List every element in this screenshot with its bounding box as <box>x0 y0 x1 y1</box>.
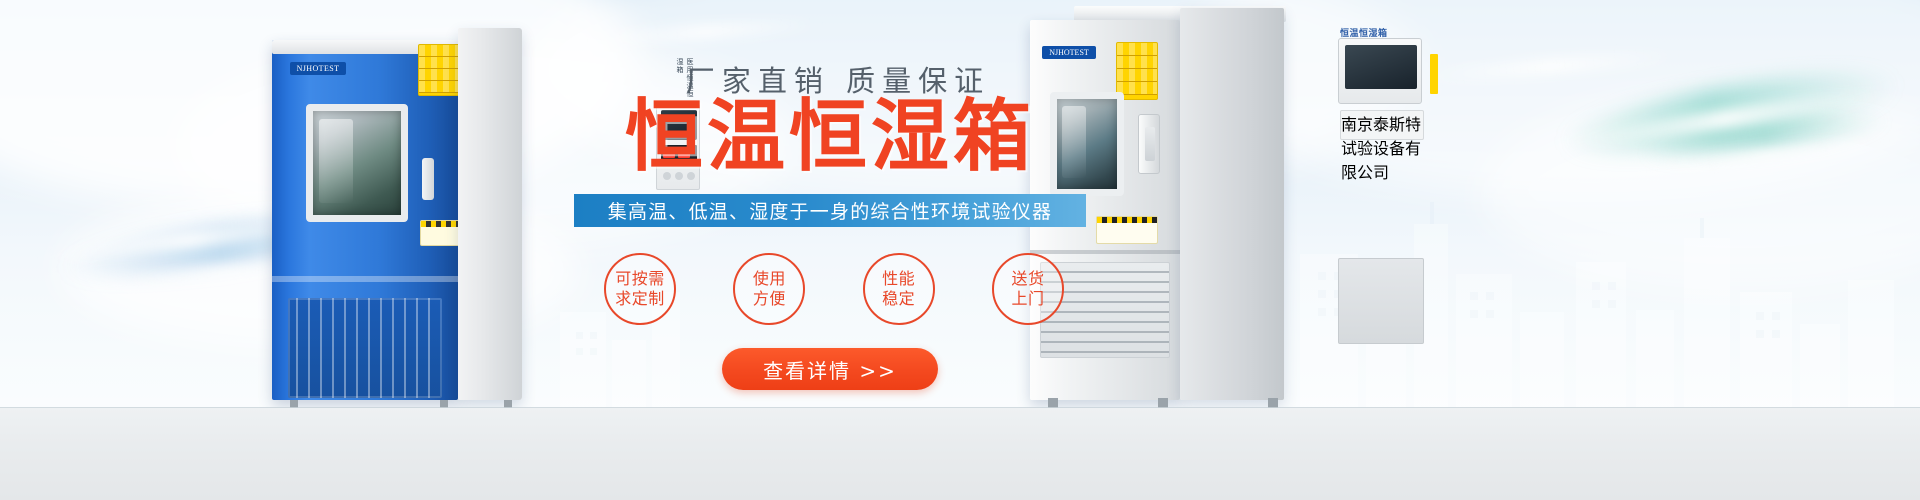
badge-line-1: 送货 <box>1011 269 1044 289</box>
product-name-plate: 恒温恒湿箱 <box>1340 26 1426 38</box>
body-seam <box>272 276 458 282</box>
banner-subtitle-bar: 集高温、低温、湿度于一身的综合性环境试验仪器 <box>574 194 1086 227</box>
feature-badge-row: 可按需 求定制 使用 方便 性能 稳定 送货 上门 <box>604 246 1064 332</box>
feature-badge-easy-use[interactable]: 使用 方便 <box>733 253 805 325</box>
feature-badge-stable[interactable]: 性能 稳定 <box>863 253 935 325</box>
door-handle[interactable] <box>1138 114 1160 174</box>
control-panel[interactable] <box>1338 38 1422 104</box>
warning-label-panel <box>1116 42 1158 100</box>
brand-logo: NJHOTEST <box>290 62 346 75</box>
badge-line-2: 求定制 <box>615 289 665 309</box>
view-details-button[interactable]: 查看详情 >> <box>722 348 938 390</box>
feature-badge-delivery[interactable]: 送货 上门 <box>992 253 1064 325</box>
control-screen <box>1345 45 1417 89</box>
badge-line-1: 可按需 <box>615 269 665 289</box>
banner-headline: 恒温恒湿箱 <box>560 98 1100 176</box>
side-vent-panel <box>1338 258 1424 344</box>
company-nameplate: 南京泰斯特试验设备有限公司 <box>1340 110 1424 140</box>
promo-banner: NJHOTEST 医用恒温恒湿箱 <box>0 0 1920 500</box>
chamber-right-side: 恒温恒湿箱 南京泰斯特试验设备有限公司 <box>1180 8 1284 400</box>
badge-line-1: 使用 <box>753 269 786 289</box>
chamber-viewing-window <box>306 104 408 222</box>
cloud-decoration <box>1480 90 1920 290</box>
cloud-streak <box>1648 135 1888 176</box>
caution-sticker <box>1096 216 1158 244</box>
swoosh-decoration <box>1639 105 1891 170</box>
badge-line-2: 方便 <box>753 289 786 309</box>
vent-grille <box>288 298 442 398</box>
door-handle <box>422 158 434 200</box>
banner-subtitle-text: 集高温、低温、湿度于一身的综合性环境试验仪器 <box>608 197 1052 224</box>
chamber-body: NJHOTEST <box>272 40 458 400</box>
badge-line-2: 上门 <box>1011 289 1044 309</box>
feature-badge-custom[interactable]: 可按需 求定制 <box>604 253 676 325</box>
ground-strip <box>0 408 1920 500</box>
badge-line-1: 性能 <box>882 269 915 289</box>
accent-stripe <box>1430 54 1438 94</box>
cloud-streak <box>1420 49 1680 85</box>
cloud-streak <box>1561 84 1890 153</box>
swoosh-decoration <box>1558 57 1902 169</box>
chamber-control-side: 医用恒温恒湿箱 <box>458 28 522 400</box>
product-left-chamber: NJHOTEST 医用恒温恒湿箱 <box>272 28 522 400</box>
badge-line-2: 稳定 <box>882 289 915 309</box>
